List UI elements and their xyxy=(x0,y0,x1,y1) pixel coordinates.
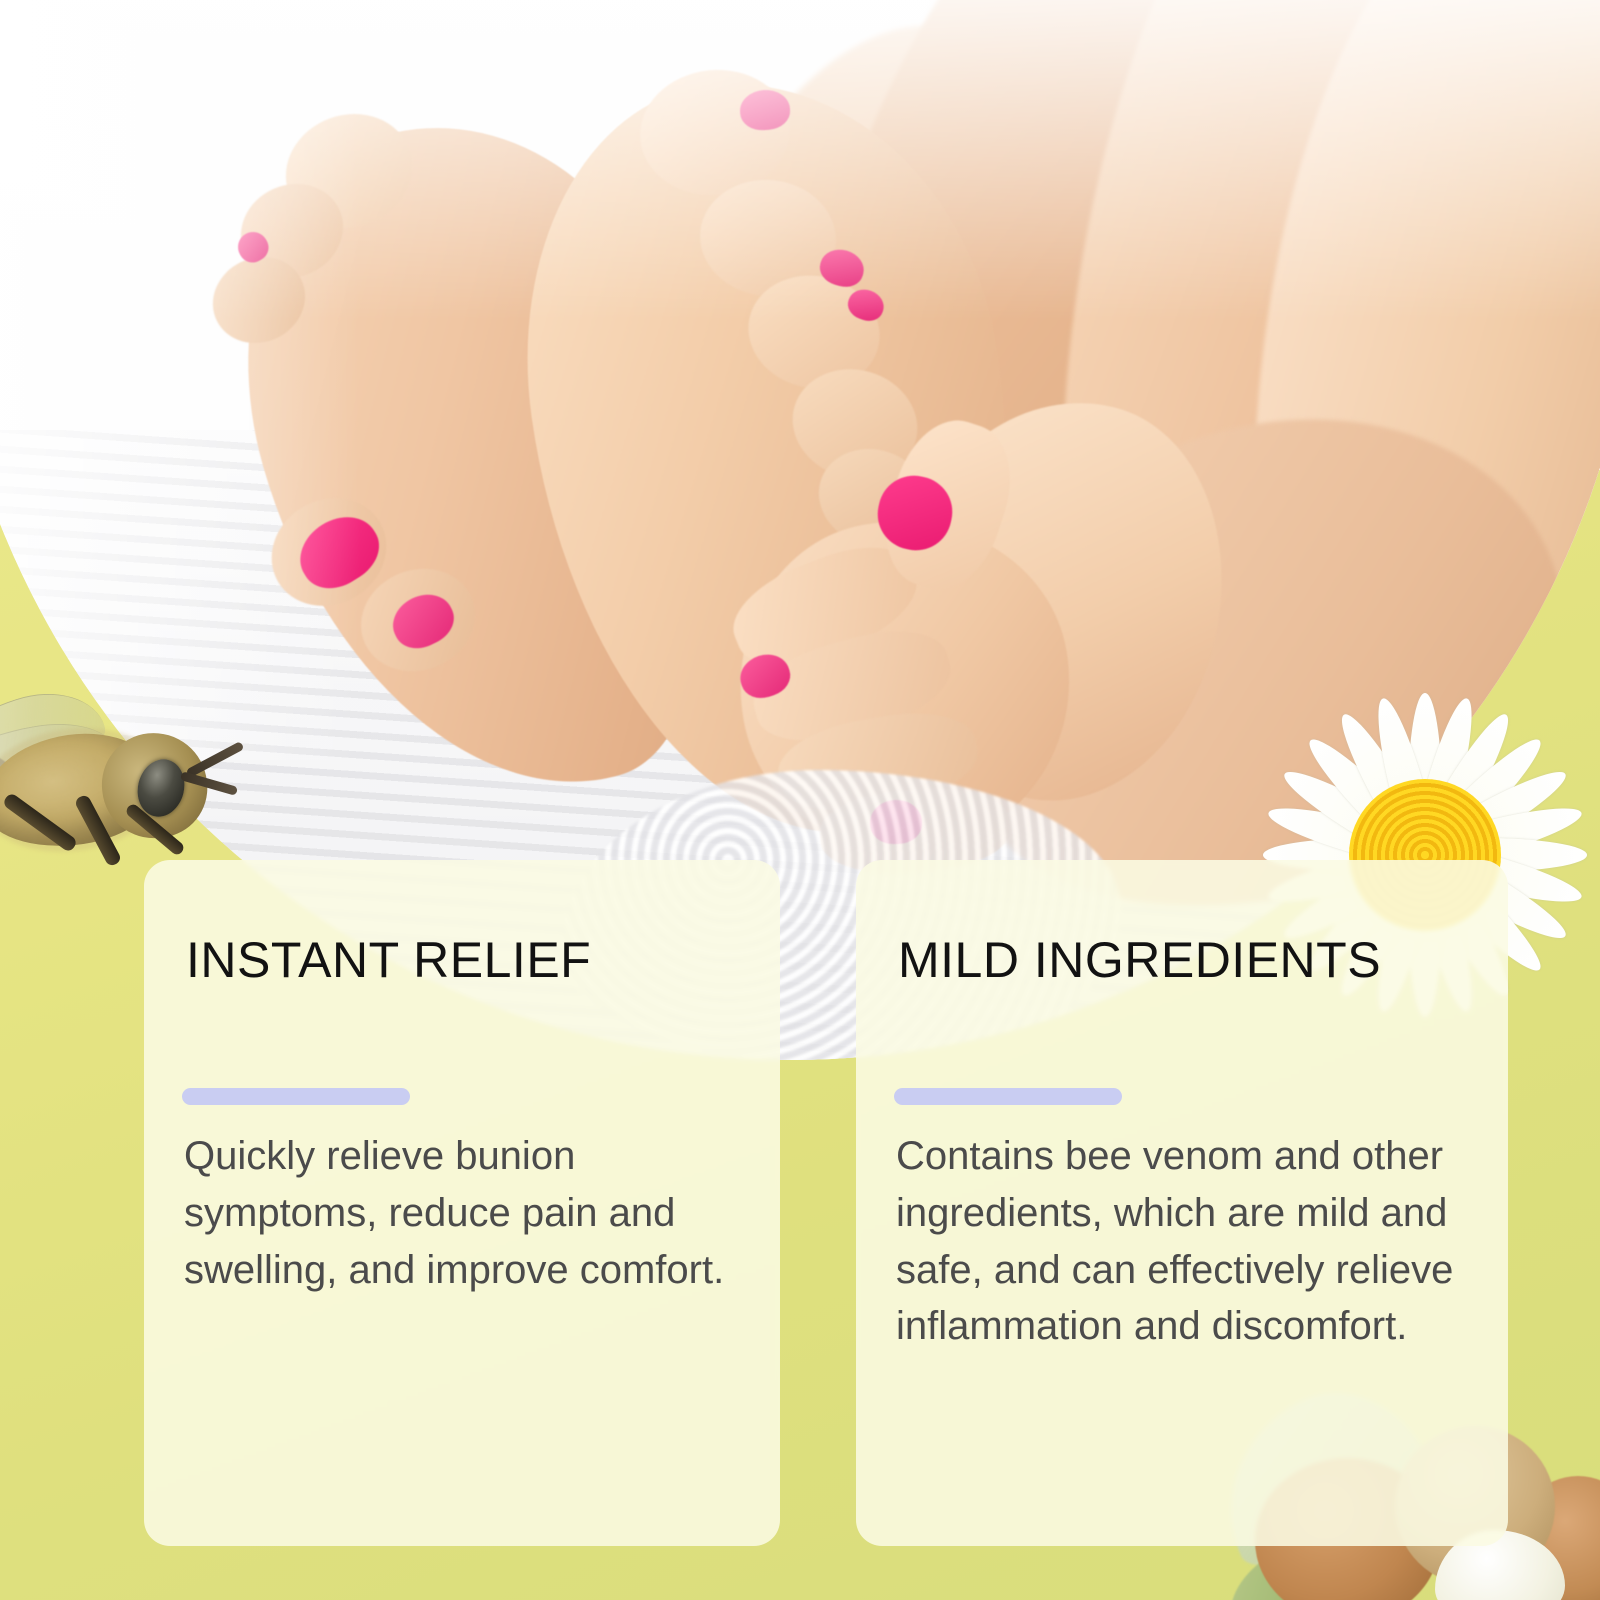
product-feature-banner: INSTANT RELIEF Quickly relieve bunion sy… xyxy=(0,0,1600,1600)
feature-card-title: INSTANT RELIEF xyxy=(186,935,591,985)
feature-card-body: Quickly relieve bunion symptoms, reduce … xyxy=(184,1128,744,1298)
feature-card-divider xyxy=(894,1088,1122,1105)
feature-card-body: Contains bee venom and other ingredients… xyxy=(896,1128,1476,1355)
feature-card-divider xyxy=(182,1088,410,1105)
feature-card-title: MILD INGREDIENTS xyxy=(898,935,1381,985)
feature-card-instant-relief[interactable]: INSTANT RELIEF Quickly relieve bunion sy… xyxy=(144,860,780,1546)
feature-card-mild-ingredients[interactable]: MILD INGREDIENTS Contains bee venom and … xyxy=(856,860,1508,1546)
